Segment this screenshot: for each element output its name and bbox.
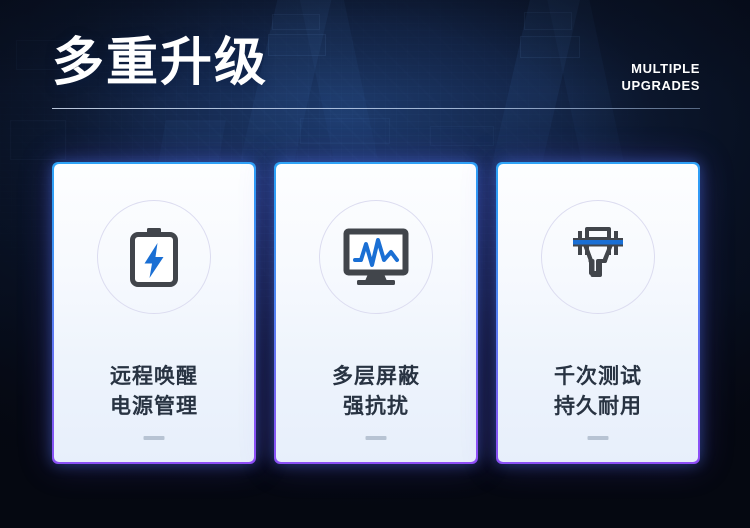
feature-card-title: 多层屏蔽 强抗扰 (276, 362, 476, 422)
header: 多重升级 MULTIPLE UPGRADES (52, 36, 700, 112)
feature-card-dash (366, 436, 387, 440)
feature-card-title-line2: 强抗扰 (276, 392, 476, 422)
feature-card-dash (144, 436, 165, 440)
page-subtitle: MULTIPLE UPGRADES (622, 60, 700, 94)
vga-connector-icon (567, 225, 629, 289)
feature-card[interactable]: 多层屏蔽 强抗扰 (274, 162, 478, 464)
feature-card-dash (588, 436, 609, 440)
header-divider (52, 108, 700, 109)
icon-circle (319, 200, 433, 314)
feature-card-title-line1: 千次测试 (498, 362, 698, 392)
battery-bolt-icon (127, 226, 181, 288)
feature-card-title: 远程唤醒 电源管理 (54, 362, 254, 422)
feature-card-surface: 远程唤醒 电源管理 (54, 164, 254, 462)
monitor-waveform-icon (343, 228, 409, 286)
icon-circle (97, 200, 211, 314)
feature-card-surface: 多层屏蔽 强抗扰 (276, 164, 476, 462)
feature-card[interactable]: 远程唤醒 电源管理 (52, 162, 256, 464)
feature-card-list: 远程唤醒 电源管理 (52, 162, 700, 464)
page-subtitle-line2: UPGRADES (622, 77, 700, 94)
feature-card-surface: 千次测试 持久耐用 (498, 164, 698, 462)
feature-card-title: 千次测试 持久耐用 (498, 362, 698, 422)
feature-card-title-line2: 电源管理 (54, 392, 254, 422)
promo-banner: 多重升级 MULTIPLE UPGRADES (0, 0, 750, 528)
feature-card-title-line2: 持久耐用 (498, 392, 698, 422)
page-title: 多重升级 (52, 32, 268, 94)
page-subtitle-line1: MULTIPLE (622, 60, 700, 77)
feature-card[interactable]: 千次测试 持久耐用 (496, 162, 700, 464)
icon-circle (541, 200, 655, 314)
feature-card-title-line1: 多层屏蔽 (276, 362, 476, 392)
feature-card-title-line1: 远程唤醒 (54, 362, 254, 392)
